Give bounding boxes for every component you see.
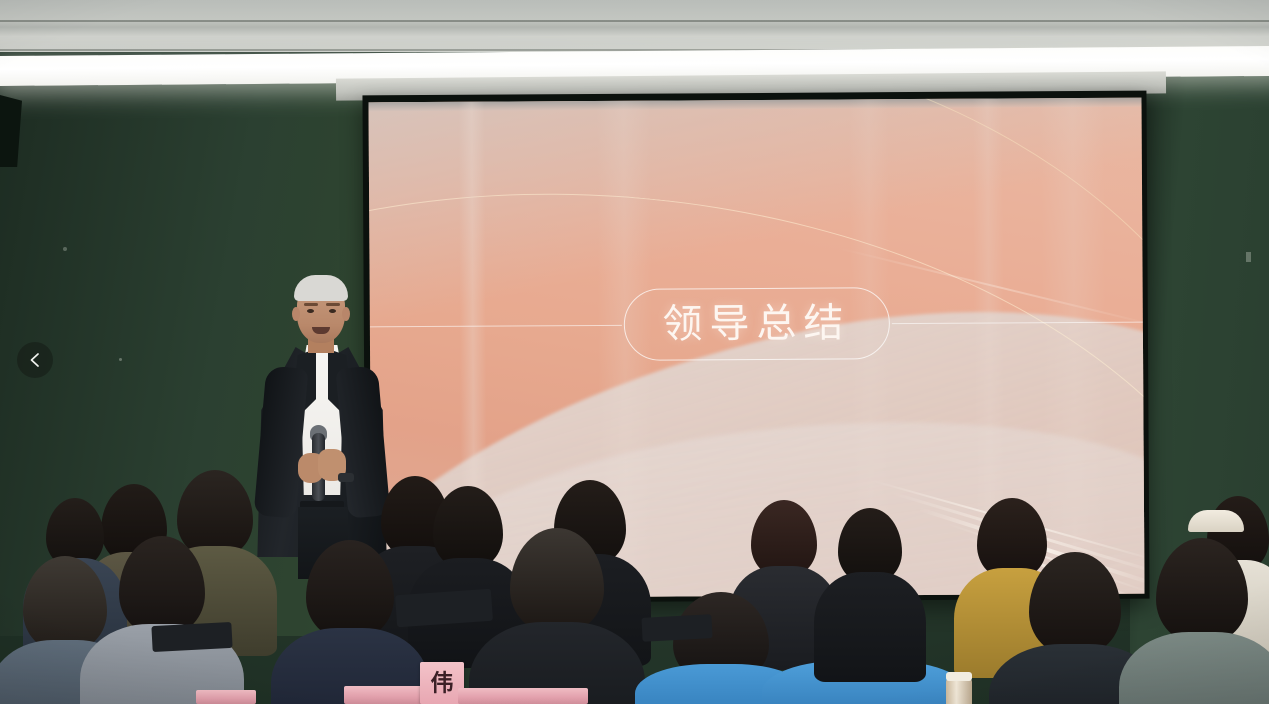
ceiling-seam-upper bbox=[0, 20, 1269, 22]
previous-button[interactable] bbox=[17, 342, 53, 378]
meeting-room-photo: 领导总结 bbox=[0, 0, 1269, 704]
presenter-brow-left bbox=[304, 303, 318, 306]
tablet-device bbox=[395, 589, 493, 628]
tablet-device bbox=[641, 614, 712, 642]
name-card-rail-far-left bbox=[196, 690, 256, 704]
presenter-ear-left bbox=[292, 307, 300, 321]
audience-head bbox=[1156, 538, 1248, 644]
name-card-rail-right bbox=[458, 688, 588, 704]
audience-member bbox=[92, 536, 232, 704]
audience-head bbox=[306, 540, 394, 640]
wall-marking-left bbox=[63, 247, 67, 251]
audience-head bbox=[1029, 552, 1121, 656]
audience-head bbox=[510, 528, 604, 634]
slide-title: 领导总结 bbox=[623, 287, 889, 361]
presenter-watch bbox=[338, 473, 354, 482]
audience-torso bbox=[1119, 632, 1269, 704]
audience-member bbox=[822, 508, 918, 648]
audience-headband bbox=[1188, 510, 1244, 532]
slide-title-rule-right bbox=[891, 321, 1143, 324]
presenter-eye-right bbox=[329, 309, 336, 313]
thermos-lid bbox=[946, 672, 972, 681]
wall-marking-left-lower bbox=[119, 358, 122, 361]
audience-member bbox=[1132, 538, 1269, 704]
audience-torso bbox=[814, 572, 926, 682]
presenter-eye-left bbox=[307, 309, 314, 313]
slide-title-rule-left bbox=[370, 324, 622, 327]
ceiling bbox=[0, 0, 1269, 52]
presenter-ear-right bbox=[342, 307, 350, 321]
wall-marking-right bbox=[1246, 252, 1251, 262]
presenter-brow-right bbox=[326, 303, 340, 306]
tablet-device bbox=[151, 622, 232, 652]
chevron-left-icon bbox=[28, 352, 42, 368]
slide-title-group: 领导总结 bbox=[370, 276, 1144, 373]
audience-head bbox=[119, 536, 205, 636]
presenter-hair bbox=[294, 275, 348, 301]
thermos bbox=[946, 678, 972, 704]
audience-member bbox=[482, 528, 632, 704]
